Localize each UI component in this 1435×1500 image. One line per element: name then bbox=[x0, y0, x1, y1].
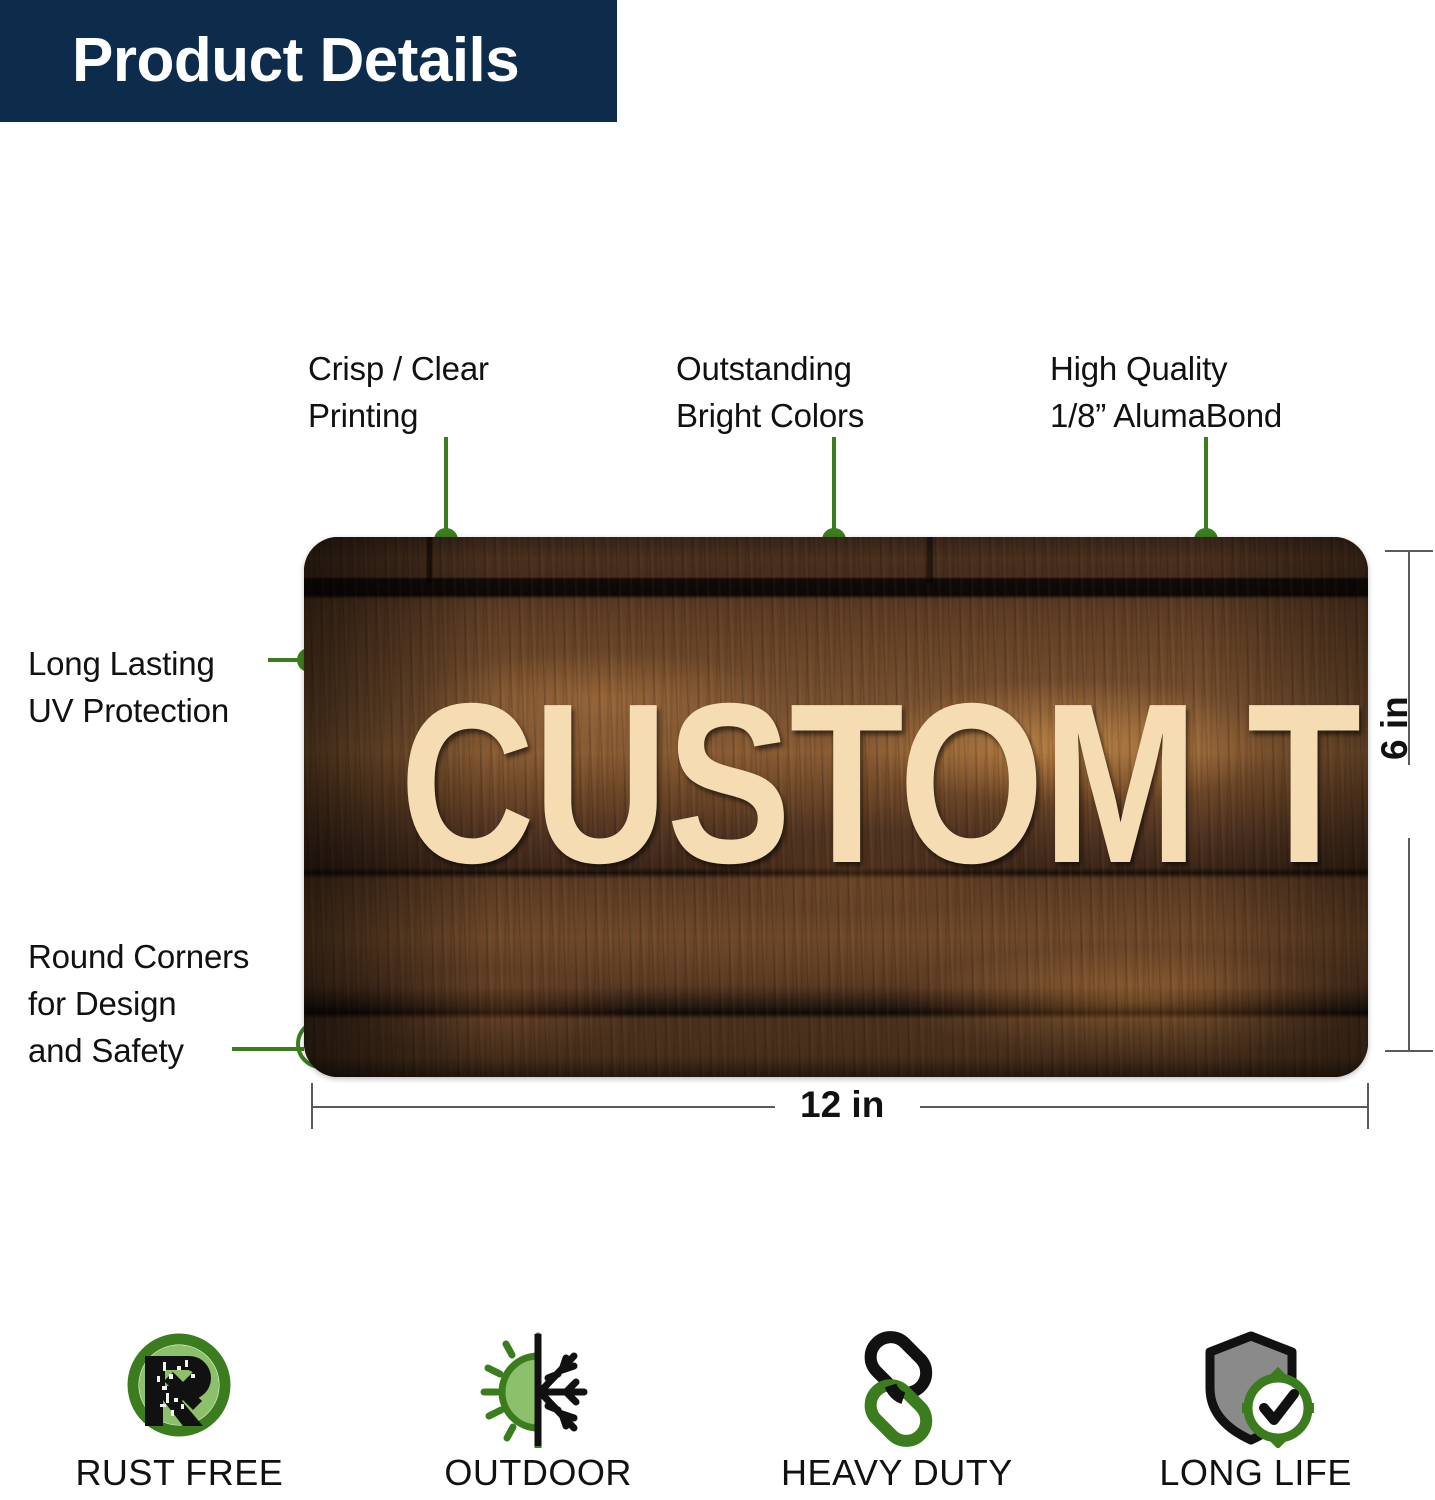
feature-label-heavy-duty: HEAVY DUTY bbox=[781, 1452, 1013, 1494]
width-dimension-line-right bbox=[920, 1106, 1368, 1108]
leader-line-outstanding-bright-colors bbox=[832, 437, 836, 542]
callout-label-high-quality-alumabond: High Quality 1/8” AlumaBond bbox=[1050, 345, 1282, 439]
height-dimension-cap-bottom bbox=[1385, 1050, 1433, 1052]
outdoor-sun-snowflake-icon bbox=[478, 1330, 598, 1448]
feature-rust-free: RUST FREE bbox=[0, 1330, 359, 1500]
width-dimension-cap-left bbox=[311, 1083, 313, 1129]
heavy-duty-chain-icon bbox=[837, 1330, 957, 1448]
rust-free-icon bbox=[119, 1330, 239, 1448]
width-dimension-line-left bbox=[312, 1106, 775, 1108]
callout-label-long-lasting-uv-protection: Long Lasting UV Protection bbox=[28, 640, 229, 734]
feature-label-rust-free: RUST FREE bbox=[75, 1452, 283, 1494]
feature-long-life: LONG LIFE bbox=[1076, 1330, 1435, 1500]
long-life-shield-clock-icon bbox=[1196, 1330, 1316, 1448]
callout-label-round-corners: Round Corners for Design and Safety bbox=[28, 933, 249, 1074]
feature-badge-row: RUST FREE bbox=[0, 1330, 1435, 1500]
product-sign-preview: CUSTOM TEXT bbox=[304, 537, 1368, 1077]
leader-line-round-corners bbox=[232, 1047, 304, 1051]
feature-outdoor: OUTDOOR bbox=[359, 1330, 718, 1500]
callout-label-crisp-clear-printing: Crisp / Clear Printing bbox=[308, 345, 489, 439]
height-dimension-line-lower bbox=[1408, 838, 1410, 1051]
width-dimension-label: 12 in bbox=[800, 1084, 884, 1126]
feature-heavy-duty: HEAVY DUTY bbox=[718, 1330, 1077, 1500]
height-dimension-cap-top bbox=[1385, 550, 1433, 552]
leader-line-crisp-clear-printing bbox=[444, 437, 448, 542]
width-dimension-cap-right bbox=[1367, 1083, 1369, 1129]
feature-label-outdoor: OUTDOOR bbox=[444, 1452, 632, 1494]
callout-label-outstanding-bright-colors: Outstanding Bright Colors bbox=[676, 345, 864, 439]
leader-line-high-quality-alumabond bbox=[1204, 437, 1208, 542]
header-banner: Product Details bbox=[0, 0, 617, 122]
height-dimension-label: 6 in bbox=[1374, 696, 1416, 760]
sign-custom-text: CUSTOM TEXT bbox=[400, 670, 1272, 898]
page-title: Product Details bbox=[72, 30, 519, 92]
feature-label-long-life: LONG LIFE bbox=[1159, 1452, 1352, 1494]
